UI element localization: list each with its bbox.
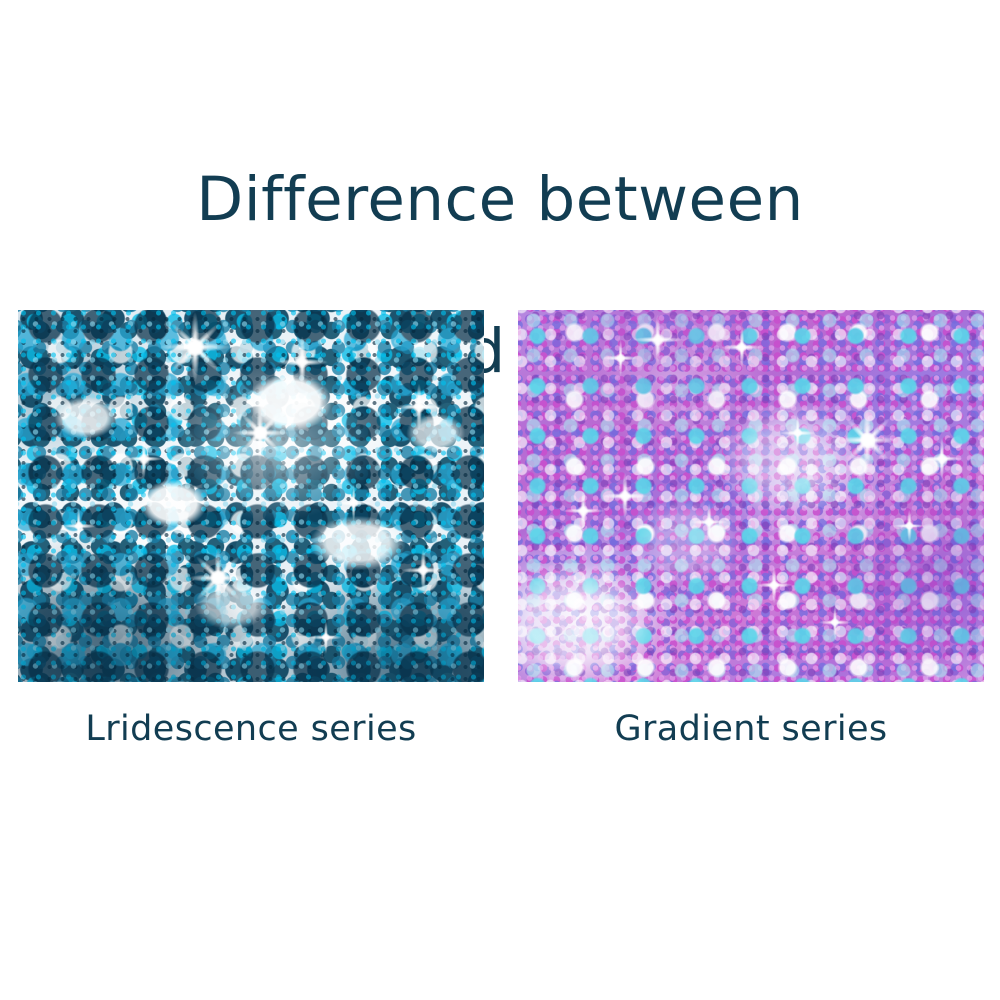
sparkle-core — [418, 565, 429, 576]
sparkle-star-icon — [779, 414, 816, 451]
sparkle-core — [736, 342, 747, 353]
swatch-cell-iridescence: Lridescence series — [18, 310, 484, 760]
sparkle-star-icon — [563, 490, 604, 531]
sparkle-core — [211, 570, 227, 586]
sparkle-star-icon — [602, 340, 639, 377]
sparkle-star-icon — [60, 507, 97, 544]
swatch-cell-gradient: Gradient series — [518, 310, 984, 760]
sparkle-star-icon — [309, 621, 341, 653]
sparkle-core — [138, 453, 149, 464]
sparkle-star-icon — [921, 438, 962, 479]
poster-canvas: Difference between magic and gradients L… — [0, 0, 1000, 1000]
sparkle-core — [578, 505, 589, 516]
sparkle-core — [186, 338, 204, 356]
sparkle-core — [905, 522, 913, 530]
sparkle-star-icon — [602, 473, 648, 519]
glitter-image-iridescence — [18, 310, 484, 682]
gradient-sparkle-layer — [518, 310, 984, 682]
sparkle-star-icon — [756, 567, 793, 604]
sparkle-core — [321, 633, 329, 641]
sparkle-core — [250, 423, 270, 443]
sparkle-star-icon — [233, 405, 288, 460]
sparkle-star-icon — [161, 313, 230, 382]
sparkle-core — [349, 499, 359, 509]
glitter-image-gradient — [518, 310, 984, 682]
swatch-label-iridescence: Lridescence series — [18, 708, 484, 750]
sparkle-star-icon — [893, 510, 925, 542]
sparkle-core — [182, 335, 207, 360]
sparkle-core — [619, 490, 631, 502]
sparkle-core — [793, 428, 803, 438]
gradient-texture — [518, 310, 984, 682]
sparkle-star-icon — [396, 384, 442, 430]
page-title-line-1: Difference between — [0, 162, 1000, 238]
sparkle-core — [770, 580, 780, 590]
sparkle-star-icon — [825, 398, 910, 483]
swatch-label-gradient: Gradient series — [518, 708, 984, 750]
sparkle-core — [860, 432, 876, 448]
sparkle-core — [856, 429, 878, 451]
sparkle-core — [937, 453, 948, 464]
sparkle-star-icon — [123, 438, 164, 479]
iridescence-texture — [18, 310, 484, 682]
sparkle-core — [616, 354, 626, 364]
sparkle-star-icon — [188, 548, 248, 608]
sparkle-core — [831, 618, 839, 626]
sparkle-core — [253, 426, 267, 440]
sparkle-star-icon — [335, 485, 372, 522]
sparkle-star-icon — [633, 314, 684, 365]
sparkle-core — [651, 333, 664, 346]
sparkle-core — [207, 567, 229, 589]
sparkle-star-icon — [176, 536, 261, 621]
sparkle-star-icon — [277, 337, 328, 388]
iridescence-sparkle-layer — [18, 310, 484, 682]
sparkle-star-icon — [146, 310, 244, 396]
sparkle-core — [413, 401, 425, 413]
sparkle-star-icon — [819, 606, 851, 638]
sparkle-star-icon — [721, 327, 762, 368]
sparkle-star-icon — [691, 504, 728, 541]
sparkle-core — [296, 355, 309, 368]
swatch-comparison-row: Lridescence series Gradient series — [0, 310, 1000, 760]
sparkle-star-icon — [403, 550, 444, 591]
sparkle-core — [74, 521, 84, 531]
sparkle-star-icon — [221, 394, 299, 472]
sparkle-star-icon — [838, 410, 898, 470]
sparkle-core — [704, 517, 714, 527]
